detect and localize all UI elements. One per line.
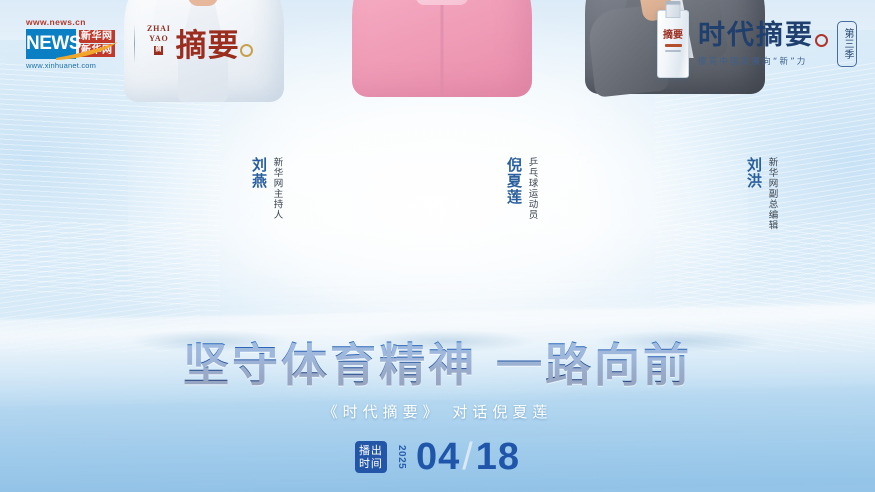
program-title-block: 时代摘要 擦亮中国发展向“新”力 xyxy=(698,21,828,67)
date-separator: / xyxy=(460,436,476,478)
headline-block: 坚守体育精神 一路向前 《时代摘要》 对话倪夏莲 xyxy=(0,338,875,422)
poster-canvas: www.news.cn NEWS 新华网 新华网 www.xinhuanet.c… xyxy=(0,0,875,492)
ring-icon xyxy=(815,34,828,47)
bottle-neck xyxy=(666,4,681,18)
xinhuanet-chinese-wordmark: 新华网 新华网 xyxy=(79,29,115,59)
xinhuanet-cn-line-1: 新华网 xyxy=(79,30,115,43)
zhaiyao-seal-icon: 摘 xyxy=(154,46,163,55)
zhaiyao-wordmark: 摘要 xyxy=(176,29,253,63)
program-title-text: 时代摘要 xyxy=(698,20,814,51)
guest-nametag-ni-xialian: 倪夏莲 乒乓球运动员 xyxy=(505,157,538,220)
p2-zipper xyxy=(441,0,444,97)
guest-name: 刘洪 xyxy=(745,157,762,189)
broadcast-badge-line-1: 播出 xyxy=(359,444,383,457)
broadcast-month: 04 xyxy=(416,436,460,478)
xinhuanet-logo-mark: NEWS 新华网 新华网 xyxy=(26,29,122,59)
ring-icon xyxy=(240,44,253,57)
broadcast-date: 04/18 xyxy=(416,437,520,477)
xinhuanet-url-bottom: www.xinhuanet.com xyxy=(26,61,122,70)
guest-role: 乒乓球运动员 xyxy=(526,157,538,220)
xinhuanet-url-top: www.news.cn xyxy=(26,18,122,27)
xinhuanet-logo[interactable]: www.news.cn NEWS 新华网 新华网 www.xinhuanet.c… xyxy=(26,18,122,70)
p2-inner-top xyxy=(416,0,468,5)
liquor-bottle-icon: 摘要 xyxy=(657,10,689,78)
guest-name: 刘燕 xyxy=(250,157,267,189)
bottle-label-subbar xyxy=(665,50,681,52)
zhaiyao-pinyin-line-1: ZHAI xyxy=(147,24,171,34)
bottle-label-text: 摘要 xyxy=(658,31,688,41)
xinhuanet-cn-line-2: 新华网 xyxy=(79,44,115,57)
page-subtitle: 《时代摘要》 对话倪夏莲 xyxy=(0,402,875,422)
xinhuanet-zhaiyao-logo[interactable]: www.news.cn NEWS 新华网 新华网 www.xinhuanet.c… xyxy=(26,18,253,70)
guest-role: 新华网副总编辑 xyxy=(766,157,778,231)
xinhuanet-news-wordmark: NEWS xyxy=(26,29,76,59)
page-title: 坚守体育精神 一路向前 xyxy=(0,338,875,392)
broadcast-badge-line-2: 时间 xyxy=(359,457,383,470)
zhaiyao-wordmark-text: 摘要 xyxy=(176,28,240,64)
broadcast-day: 18 xyxy=(476,436,520,478)
program-logo[interactable]: 摘要 时代摘要 擦亮中国发展向“新”力 第三季 xyxy=(657,10,857,78)
bottle-label-bar xyxy=(665,44,682,47)
guest-name: 倪夏莲 xyxy=(505,157,522,205)
zhaiyao-pinyin: ZHAI YAO 摘 xyxy=(147,24,171,63)
logo-divider xyxy=(134,24,135,64)
guest-nametag-liu-hong: 刘洪 新华网副总编辑 xyxy=(745,157,778,231)
guest-nametag-liu-yan: 刘燕 新华网主持人 xyxy=(250,157,283,220)
guest-photo-liu-yan xyxy=(120,102,290,342)
season-badge: 第三季 xyxy=(837,21,857,67)
guest-photo-liu-hong xyxy=(585,94,765,344)
broadcast-date-row: 播出 时间 2025 04/18 xyxy=(0,437,875,477)
broadcast-year: 2025 xyxy=(396,445,407,469)
zhaiyao-logo[interactable]: ZHAI YAO 摘 摘要 xyxy=(147,24,253,63)
program-subtitle: 擦亮中国发展向“新”力 xyxy=(698,55,828,67)
bottle-label: 摘要 xyxy=(658,31,688,52)
program-title: 时代摘要 xyxy=(698,21,828,51)
guest-photo-ni-xialian xyxy=(352,97,532,347)
broadcast-time-badge: 播出 时间 xyxy=(355,441,387,473)
zhaiyao-pinyin-line-2: YAO xyxy=(147,34,171,44)
guest-role: 新华网主持人 xyxy=(271,157,283,220)
